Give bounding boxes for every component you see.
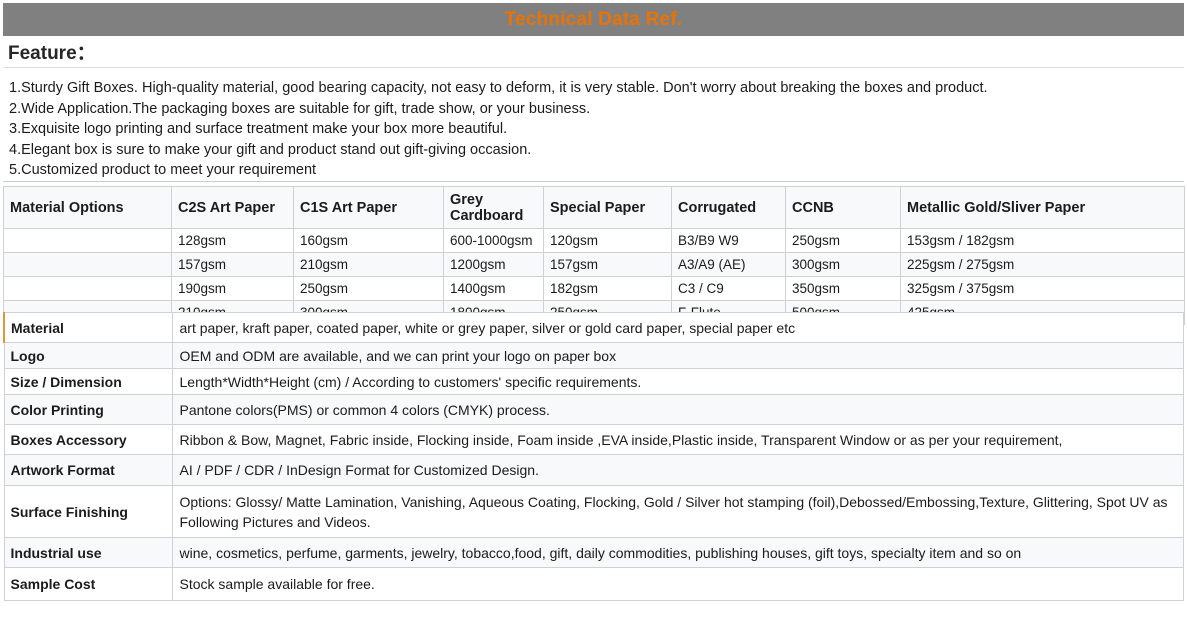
column-header: Special Paper xyxy=(544,187,672,229)
title-bar: Technical Data Ref. xyxy=(3,3,1184,36)
spec-label: Logo xyxy=(4,343,172,369)
spec-value: Options: Glossy/ Matte Lamination, Vanis… xyxy=(172,486,1184,538)
spec-label: Artwork Format xyxy=(4,455,172,486)
spec-row-size-dimension: Size / Dimension Length*Width*Height (cm… xyxy=(4,369,1184,395)
table-cell: B3/B9 W9 xyxy=(672,229,786,253)
spec-label: Industrial use xyxy=(4,538,172,568)
spec-row-material: Material art paper, kraft paper, coated … xyxy=(4,313,1184,343)
spec-label: Size / Dimension xyxy=(4,369,172,395)
table-cell: 325gsm / 375gsm xyxy=(901,277,1185,301)
table-cell: 157gsm xyxy=(544,253,672,277)
spec-row-boxes-accessory: Boxes Accessory Ribbon & Bow, Magnet, Fa… xyxy=(4,425,1184,455)
column-header: C1S Art Paper xyxy=(294,187,444,229)
table-cell: 120gsm xyxy=(544,229,672,253)
table-cell: 350gsm xyxy=(786,277,901,301)
spec-value: Stock sample available for free. xyxy=(172,568,1184,601)
spec-label: Material xyxy=(4,313,172,343)
material-table-header-row: Material Options C2S Art Paper C1S Art P… xyxy=(4,187,1185,229)
table-cell: 250gsm xyxy=(786,229,901,253)
table-cell: A3/A9 (AE) xyxy=(672,253,786,277)
spec-value: OEM and ODM are available, and we can pr… xyxy=(172,343,1184,369)
feature-heading: Feature： xyxy=(8,38,96,65)
table-row: 128gsm 160gsm 600-1000gsm 120gsm B3/B9 W… xyxy=(4,229,1185,253)
column-header: C2S Art Paper xyxy=(172,187,294,229)
table-cell: C3 / C9 xyxy=(672,277,786,301)
feature-item: 4.Elegant box is sure to make your gift … xyxy=(9,140,1178,161)
column-header: Grey Cardboard xyxy=(444,187,544,229)
table-cell: 300gsm xyxy=(786,253,901,277)
table-cell: 190gsm xyxy=(172,277,294,301)
spec-label: Sample Cost xyxy=(4,568,172,601)
table-cell: 182gsm xyxy=(544,277,672,301)
spec-value: Pantone colors(PMS) or common 4 colors (… xyxy=(172,395,1184,425)
page-title: Technical Data Ref. xyxy=(505,10,683,29)
spec-row-artwork-format: Artwork Format AI / PDF / CDR / InDesign… xyxy=(4,455,1184,486)
column-header: Corrugated xyxy=(672,187,786,229)
spec-label: Boxes Accessory xyxy=(4,425,172,455)
feature-item: 2.Wide Application.The packaging boxes a… xyxy=(9,99,1178,120)
spec-row-logo: Logo OEM and ODM are available, and we c… xyxy=(4,343,1184,369)
column-header: Metallic Gold/Sliver Paper xyxy=(901,187,1185,229)
feature-list: 1.Sturdy Gift Boxes. High-quality materi… xyxy=(3,69,1184,182)
feature-heading-row: Feature： xyxy=(3,36,1184,68)
table-cell: 250gsm xyxy=(294,277,444,301)
spec-value: Length*Width*Height (cm) / According to … xyxy=(172,369,1184,395)
spec-row-surface-finishing: Surface Finishing Options: Glossy/ Matte… xyxy=(4,486,1184,538)
table-cell: 128gsm xyxy=(172,229,294,253)
column-header: Material Options xyxy=(4,187,172,229)
feature-item: 5.Customized product to meet your requir… xyxy=(9,160,1178,181)
spec-row-sample-cost: Sample Cost Stock sample available for f… xyxy=(4,568,1184,601)
spec-row-color-printing: Color Printing Pantone colors(PMS) or co… xyxy=(4,395,1184,425)
table-cell: 600-1000gsm xyxy=(444,229,544,253)
feature-item: 3.Exquisite logo printing and surface tr… xyxy=(9,119,1178,140)
table-cell: 1200gsm xyxy=(444,253,544,277)
spec-label: Color Printing xyxy=(4,395,172,425)
spec-value: wine, cosmetics, perfume, garments, jewe… xyxy=(172,538,1184,568)
table-cell xyxy=(4,277,172,301)
technical-data-sheet: Technical Data Ref. Feature： 1.Sturdy Gi… xyxy=(0,0,1187,620)
spec-label: Surface Finishing xyxy=(4,486,172,538)
table-cell: 160gsm xyxy=(294,229,444,253)
specification-table: Material art paper, kraft paper, coated … xyxy=(3,312,1184,601)
spec-value: AI / PDF / CDR / InDesign Format for Cus… xyxy=(172,455,1184,486)
table-cell: 157gsm xyxy=(172,253,294,277)
spec-value: art paper, kraft paper, coated paper, wh… xyxy=(172,313,1184,343)
column-header: CCNB xyxy=(786,187,901,229)
table-cell: 225gsm / 275gsm xyxy=(901,253,1185,277)
table-row: 190gsm 250gsm 1400gsm 182gsm C3 / C9 350… xyxy=(4,277,1185,301)
table-row: 157gsm 210gsm 1200gsm 157gsm A3/A9 (AE) … xyxy=(4,253,1185,277)
table-cell: 1400gsm xyxy=(444,277,544,301)
spec-value: Ribbon & Bow, Magnet, Fabric inside, Flo… xyxy=(172,425,1184,455)
feature-item: 1.Sturdy Gift Boxes. High-quality materi… xyxy=(9,78,1178,99)
table-cell xyxy=(4,253,172,277)
material-options-table: Material Options C2S Art Paper C1S Art P… xyxy=(3,186,1185,325)
table-cell: 153gsm / 182gsm xyxy=(901,229,1185,253)
table-cell: 210gsm xyxy=(294,253,444,277)
table-cell xyxy=(4,229,172,253)
spec-row-industrial-use: Industrial use wine, cosmetics, perfume,… xyxy=(4,538,1184,568)
